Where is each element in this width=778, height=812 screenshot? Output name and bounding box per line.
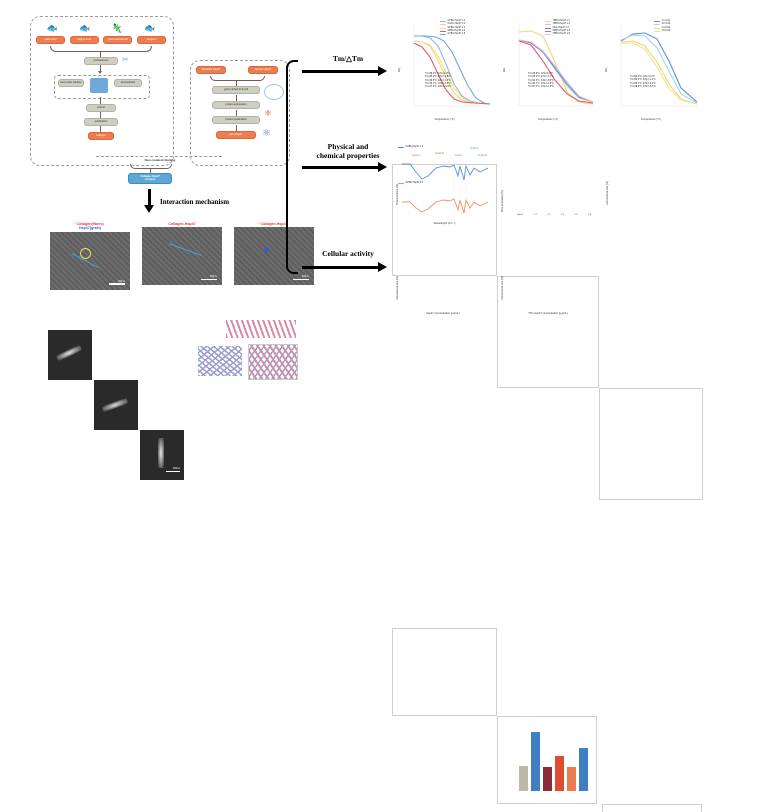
viability-col-xlabel: Hsp47 concentration (μg/mL): [392, 312, 494, 315]
protein-structure-icon: ⚛: [262, 128, 271, 139]
tem-particle: [102, 398, 128, 413]
dsc-2-legend: TPBC-Hsp47 1:1 TPBC-Hsp47 1:2 CDA-Hsp47 …: [545, 20, 570, 37]
legend-swatch: [440, 31, 446, 32]
ftir-annotation-amide-a: Amide A: [412, 155, 421, 157]
ribbon-left: [198, 346, 242, 376]
dsc-2-annotations: Tm=48.9°C, ΔTm=0.0°C Tm=45.2°C, ΔTm=-3.7…: [528, 73, 554, 90]
annotation: Tm=47.1°C, ΔTm=-1.8°C: [528, 86, 554, 89]
bar: [519, 766, 528, 791]
afm-panel-1: Collagen(fibers) Hsp47(grain) 100nm: [50, 222, 130, 290]
legend-label: TPBC-Hsp47 1:8: [553, 33, 570, 36]
particle-bars: [518, 723, 592, 791]
ftir-annotation-amide-b: Amide B: [435, 153, 444, 155]
dsc-1-legend: GTBC-Hsp47 1:1 CACC-Hsp47 1:2 GPBC-Hsp47…: [440, 20, 465, 37]
ftir-annotation-amide-iii: Amide III: [478, 155, 487, 157]
viability-hsp47-ylabel: Cell survival rate (%): [501, 276, 504, 300]
results-brace: [286, 60, 298, 274]
legend-swatch: [440, 34, 446, 35]
legend-label: CABC-Hsp47 1:1: [406, 146, 424, 149]
legend-swatch: [440, 24, 446, 25]
legend-swatch: [654, 28, 660, 29]
branch-enzymatic: enzymatic solution: [58, 79, 84, 87]
source-animals-row: 🐟 🐟 🦎 🐟: [36, 24, 166, 33]
source-label: giant salamander: [103, 36, 132, 44]
viability-hsp47-xlabel: TPC-Hsp47 concentration (μg/mL): [497, 312, 599, 315]
legend-label: GPBC-Hsp47 1:1: [406, 182, 424, 185]
interaction-mechanism-label: Interaction mechanism: [160, 198, 270, 206]
ribbon-zoom-box: [248, 344, 298, 380]
arrow-to-cellular: [302, 266, 380, 269]
chart-dsc-2: [497, 276, 599, 388]
arrow-label-cellular: Cellular activity: [298, 250, 398, 259]
scale-bar: [166, 471, 180, 473]
annotation: Tm=47.9°C, ΔTm=+9.9°C: [425, 86, 451, 89]
scale-bar-label: 100nm: [118, 280, 125, 283]
bar: [531, 732, 540, 791]
step-gene-cloned: gene cloned in E.coli: [212, 86, 260, 94]
scale-bar-label: 100nm: [173, 467, 180, 470]
tick: 1:8: [588, 214, 591, 216]
plasmid-icon: [264, 84, 284, 100]
protein-complex-model: [196, 318, 304, 384]
branch-acid: acid solution: [114, 79, 142, 87]
dsc-2-xlabel: Temperature (°C): [497, 118, 599, 121]
bar: [567, 767, 576, 791]
ftir-ylabel: Transmittance (%): [396, 184, 399, 205]
dsc-1-annotations: Tm=38.0°C, ΔTm=0.0°C Tm=35.2°C, ΔTm=-2.8…: [425, 73, 451, 90]
scale-bar: [201, 279, 217, 281]
step-pure-hsp47: pure Hsp47: [216, 131, 256, 139]
afm-panel-2: Collagen-Hsp47 100nm: [142, 222, 222, 285]
tick: 1:1: [534, 214, 537, 216]
legend-label: 1:8 (Col): [662, 30, 671, 33]
legend-swatch: [545, 28, 551, 29]
legend-swatch: [545, 21, 551, 22]
step-pretreatment: pretreatment: [84, 57, 118, 65]
tem-panel-1: [48, 330, 92, 380]
source-labels-row: grass carp bigeye tuna giant salamander …: [36, 36, 166, 44]
gene-zebrafish: zebrafish Hsp47: [196, 66, 226, 74]
legend-swatch: [654, 24, 660, 25]
fish-icon: 🐟: [79, 24, 90, 33]
annotation: Tm=48.8°C, ΔTm=-5.7°C: [630, 86, 656, 89]
bar: [543, 767, 552, 791]
source-label: sturgeon: [137, 36, 166, 44]
ftir-annotation-amide-i: Amide I: [455, 155, 463, 157]
zeta-ylabel: Cell survival rate (%): [606, 181, 609, 205]
dsc-2-ylabel: θ/θ₀: [503, 67, 506, 72]
source-label: bigeye tuna: [70, 36, 99, 44]
arrow-label-tm: Tm/△Tm: [300, 55, 396, 64]
dsc-3-curves: [599, 14, 703, 126]
fish-icon: 🐟: [47, 24, 58, 33]
mechanism-arrow-head: [144, 205, 154, 213]
scale-bar-label: 100nm: [210, 275, 217, 278]
step-purification: purification: [84, 118, 118, 126]
dsc-1-ylabel: θ/θ₀: [398, 67, 401, 72]
beaker-icon: [90, 78, 108, 93]
step-collagen: collagen: [88, 132, 114, 140]
afm-marker-circle: [80, 248, 91, 259]
afm-fiber-trace: [169, 244, 201, 257]
afm-caption: Collagen-Hsp47: [234, 222, 314, 226]
tem-panel-2: [94, 380, 138, 430]
chart-dsc-3: [599, 388, 703, 500]
dsc-3-ylabel: θ/θ₀: [605, 67, 608, 72]
binding-connector: [96, 156, 222, 157]
legend-label: GTBC-Hsp47 1:8: [448, 33, 466, 36]
tick: 1:4: [561, 214, 564, 216]
dsc-3-annotations: Tm=54.5°C, ΔTm=0.0°C Tm=52.3°C, ΔTm=-2.2…: [630, 76, 656, 89]
afm-caption-hsp47: Hsp47(grain): [50, 226, 130, 230]
gene-human: human Hsp47: [248, 66, 278, 74]
source-label: grass carp: [36, 36, 65, 44]
gene-brace: [210, 76, 265, 81]
chart-particle-size: [497, 716, 597, 804]
zeta-bars: [623, 805, 699, 812]
legend-swatch: [545, 24, 551, 25]
legend-swatch: [440, 28, 446, 29]
legend-swatch: [654, 21, 660, 22]
step-protein-purification: protein purification: [212, 116, 260, 124]
legend-swatch: [654, 31, 660, 32]
tem-panel-3: 100nm: [140, 430, 184, 480]
dsc-3-legend: 1:1 (Col) 1:2 (Col) 1:4 (Col) 1:8 (Col): [654, 20, 670, 33]
arrow-label-physchem-2: chemical properties: [298, 152, 398, 161]
ribbon-top: [226, 320, 296, 338]
salamander-icon: 🦎: [112, 24, 123, 33]
legend-swatch: [545, 34, 551, 35]
binding-brace: [130, 164, 172, 169]
chart-zeta: [602, 804, 702, 812]
protein-ribbon-icon: ⚛: [264, 108, 272, 119]
tick: 1:6: [574, 214, 577, 216]
chart-ftir: [392, 628, 497, 716]
dsc-3-xlabel: Temperature (°C): [599, 118, 703, 121]
non-covalent-binding-label: Non-covalent binding: [100, 158, 220, 162]
particle-ylabel: Zeta potential (mV): [501, 190, 504, 212]
step-protein-expression: protein expression: [212, 101, 260, 109]
ftir-annotation-amide-ii: Amide II: [470, 148, 478, 150]
sturgeon-icon: 🐟: [144, 24, 155, 33]
arrow-to-physchem: [302, 166, 380, 169]
source-brace: [50, 46, 152, 52]
legend-swatch: [398, 147, 404, 148]
afm-caption: Collagen-Hsp47: [142, 222, 222, 226]
ftir-legend: CABC-Hsp47 1:1: [398, 146, 423, 149]
legend-swatch: [545, 31, 551, 32]
tick: Hsp47: [517, 214, 523, 216]
step-extract: extract: [86, 104, 116, 112]
bar: [579, 748, 588, 791]
arrow-to-thermal: [302, 70, 380, 73]
viability-col-ylabel: Cell survival rate (%): [396, 276, 399, 300]
afm-grain-marker: [264, 247, 269, 252]
tick: 1:2: [547, 214, 550, 216]
scale-bar: [293, 279, 309, 281]
scissors-icon: ✂: [122, 55, 129, 64]
dsc-1-xlabel: Temperature (°C): [392, 118, 497, 121]
particle-xticks: Hsp47 1:1 1:2 1:4 1:6 1:8: [517, 214, 591, 216]
tem-particle: [158, 438, 164, 468]
tem-particle: [56, 345, 82, 361]
ftir-legend-2: GPBC-Hsp47 1:1: [398, 182, 423, 185]
ftir-xlabel: Wavelength (cm⁻¹): [392, 222, 497, 225]
legend-swatch: [440, 21, 446, 22]
flow-connector: [100, 97, 101, 104]
flow-arrow: [98, 71, 102, 74]
collagen-hsp47-complex-node: Collagen-Hsp47 complex: [128, 173, 172, 184]
scale-bar-label: 100nm: [302, 275, 309, 278]
scale-bar: [109, 283, 125, 285]
bar: [555, 756, 564, 791]
